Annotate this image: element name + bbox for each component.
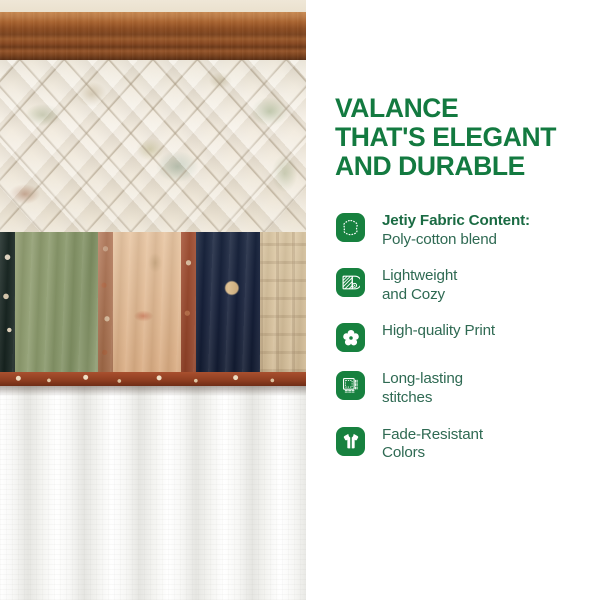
list-item-label: Lightweight and Cozy	[382, 266, 457, 304]
dark-floral-strip	[0, 232, 15, 372]
red-braid-strip	[98, 232, 113, 372]
list-item-label: Long-lasting stitches	[382, 369, 463, 407]
content-panel: VALANCE THAT'S ELEGANT AND DURABLE Jetiy…	[306, 0, 600, 600]
tshirt-icon	[336, 427, 365, 456]
rust-strip	[181, 232, 196, 372]
page-title: VALANCE THAT'S ELEGANT AND DURABLE	[335, 94, 556, 181]
flower-icon	[336, 323, 365, 352]
list-item-label: High-quality Print	[382, 321, 495, 341]
feature-detail: Poly-cotton blend	[382, 231, 497, 248]
list-item-label: Fade-Resistant Colors	[382, 425, 483, 463]
quilted-valance-photo	[0, 0, 306, 600]
patchwork-band	[0, 232, 306, 372]
red-floral-binding	[0, 372, 306, 386]
feature-lead-suffix: :	[525, 212, 530, 229]
sage-green-strip	[15, 232, 98, 372]
feature-list: Jetiy Fabric Content: Poly-cotton blend	[336, 211, 586, 480]
list-item: Lightweight and Cozy	[336, 266, 586, 304]
cream-quilted-panel	[0, 60, 306, 232]
peach-strip	[113, 232, 180, 372]
feature-lead: Jetiy Fabric Content	[382, 212, 525, 229]
curtain-shadow	[0, 386, 306, 396]
product-feature-poster: VALANCE THAT'S ELEGANT AND DURABLE Jetiy…	[0, 0, 600, 600]
fabric-roll-icon	[336, 268, 365, 297]
white-sheer-curtain	[0, 386, 306, 600]
list-item: High-quality Print	[336, 321, 586, 352]
leather-hide-icon	[336, 213, 365, 242]
list-item: Long-lasting stitches	[336, 369, 586, 407]
list-item: Jetiy Fabric Content: Poly-cotton blend	[336, 211, 586, 249]
stitched-fabric-icon	[336, 371, 365, 400]
list-item-label: Jetiy Fabric Content: Poly-cotton blend	[382, 211, 530, 249]
wooden-cornice	[0, 12, 306, 62]
list-item: Fade-Resistant Colors	[336, 425, 586, 463]
navy-flower-strip	[196, 232, 260, 372]
tan-plaid-strip	[260, 232, 306, 372]
